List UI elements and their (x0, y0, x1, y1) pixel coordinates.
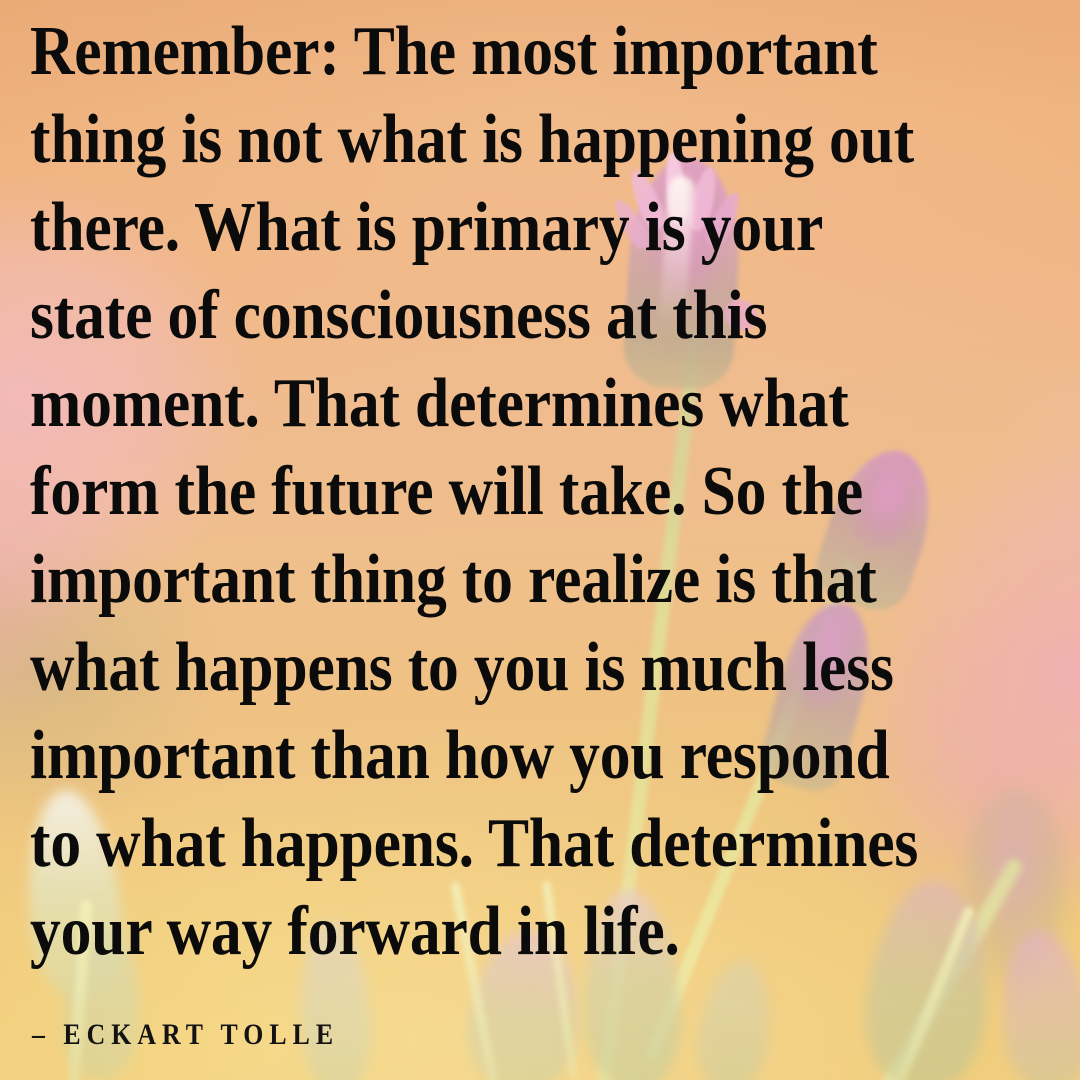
quote-line: there. What is primary is your (30, 184, 929, 272)
quote-text: Remember: The most important thing is no… (30, 8, 1052, 976)
quote-line: important than how you respond (30, 712, 929, 800)
quote-line: your way forward in life. (30, 888, 929, 976)
quote-line: moment. That determines what (30, 360, 929, 448)
quote-line: to what happens. That determines (30, 800, 929, 888)
quote-line: state of consciousness at this (30, 272, 929, 360)
quote-line: what happens to you is much less (30, 624, 929, 712)
quote-line: form the future will take. So the (30, 448, 929, 536)
attribution-text: – ECKART TOLLE (32, 1018, 339, 1052)
quote-line: thing is not what is happening out (30, 96, 929, 184)
quote-card: Remember: The most important thing is no… (0, 0, 1080, 1080)
quote-line: important thing to realize is that (30, 536, 929, 624)
quote-line: Remember: The most important (30, 8, 929, 96)
